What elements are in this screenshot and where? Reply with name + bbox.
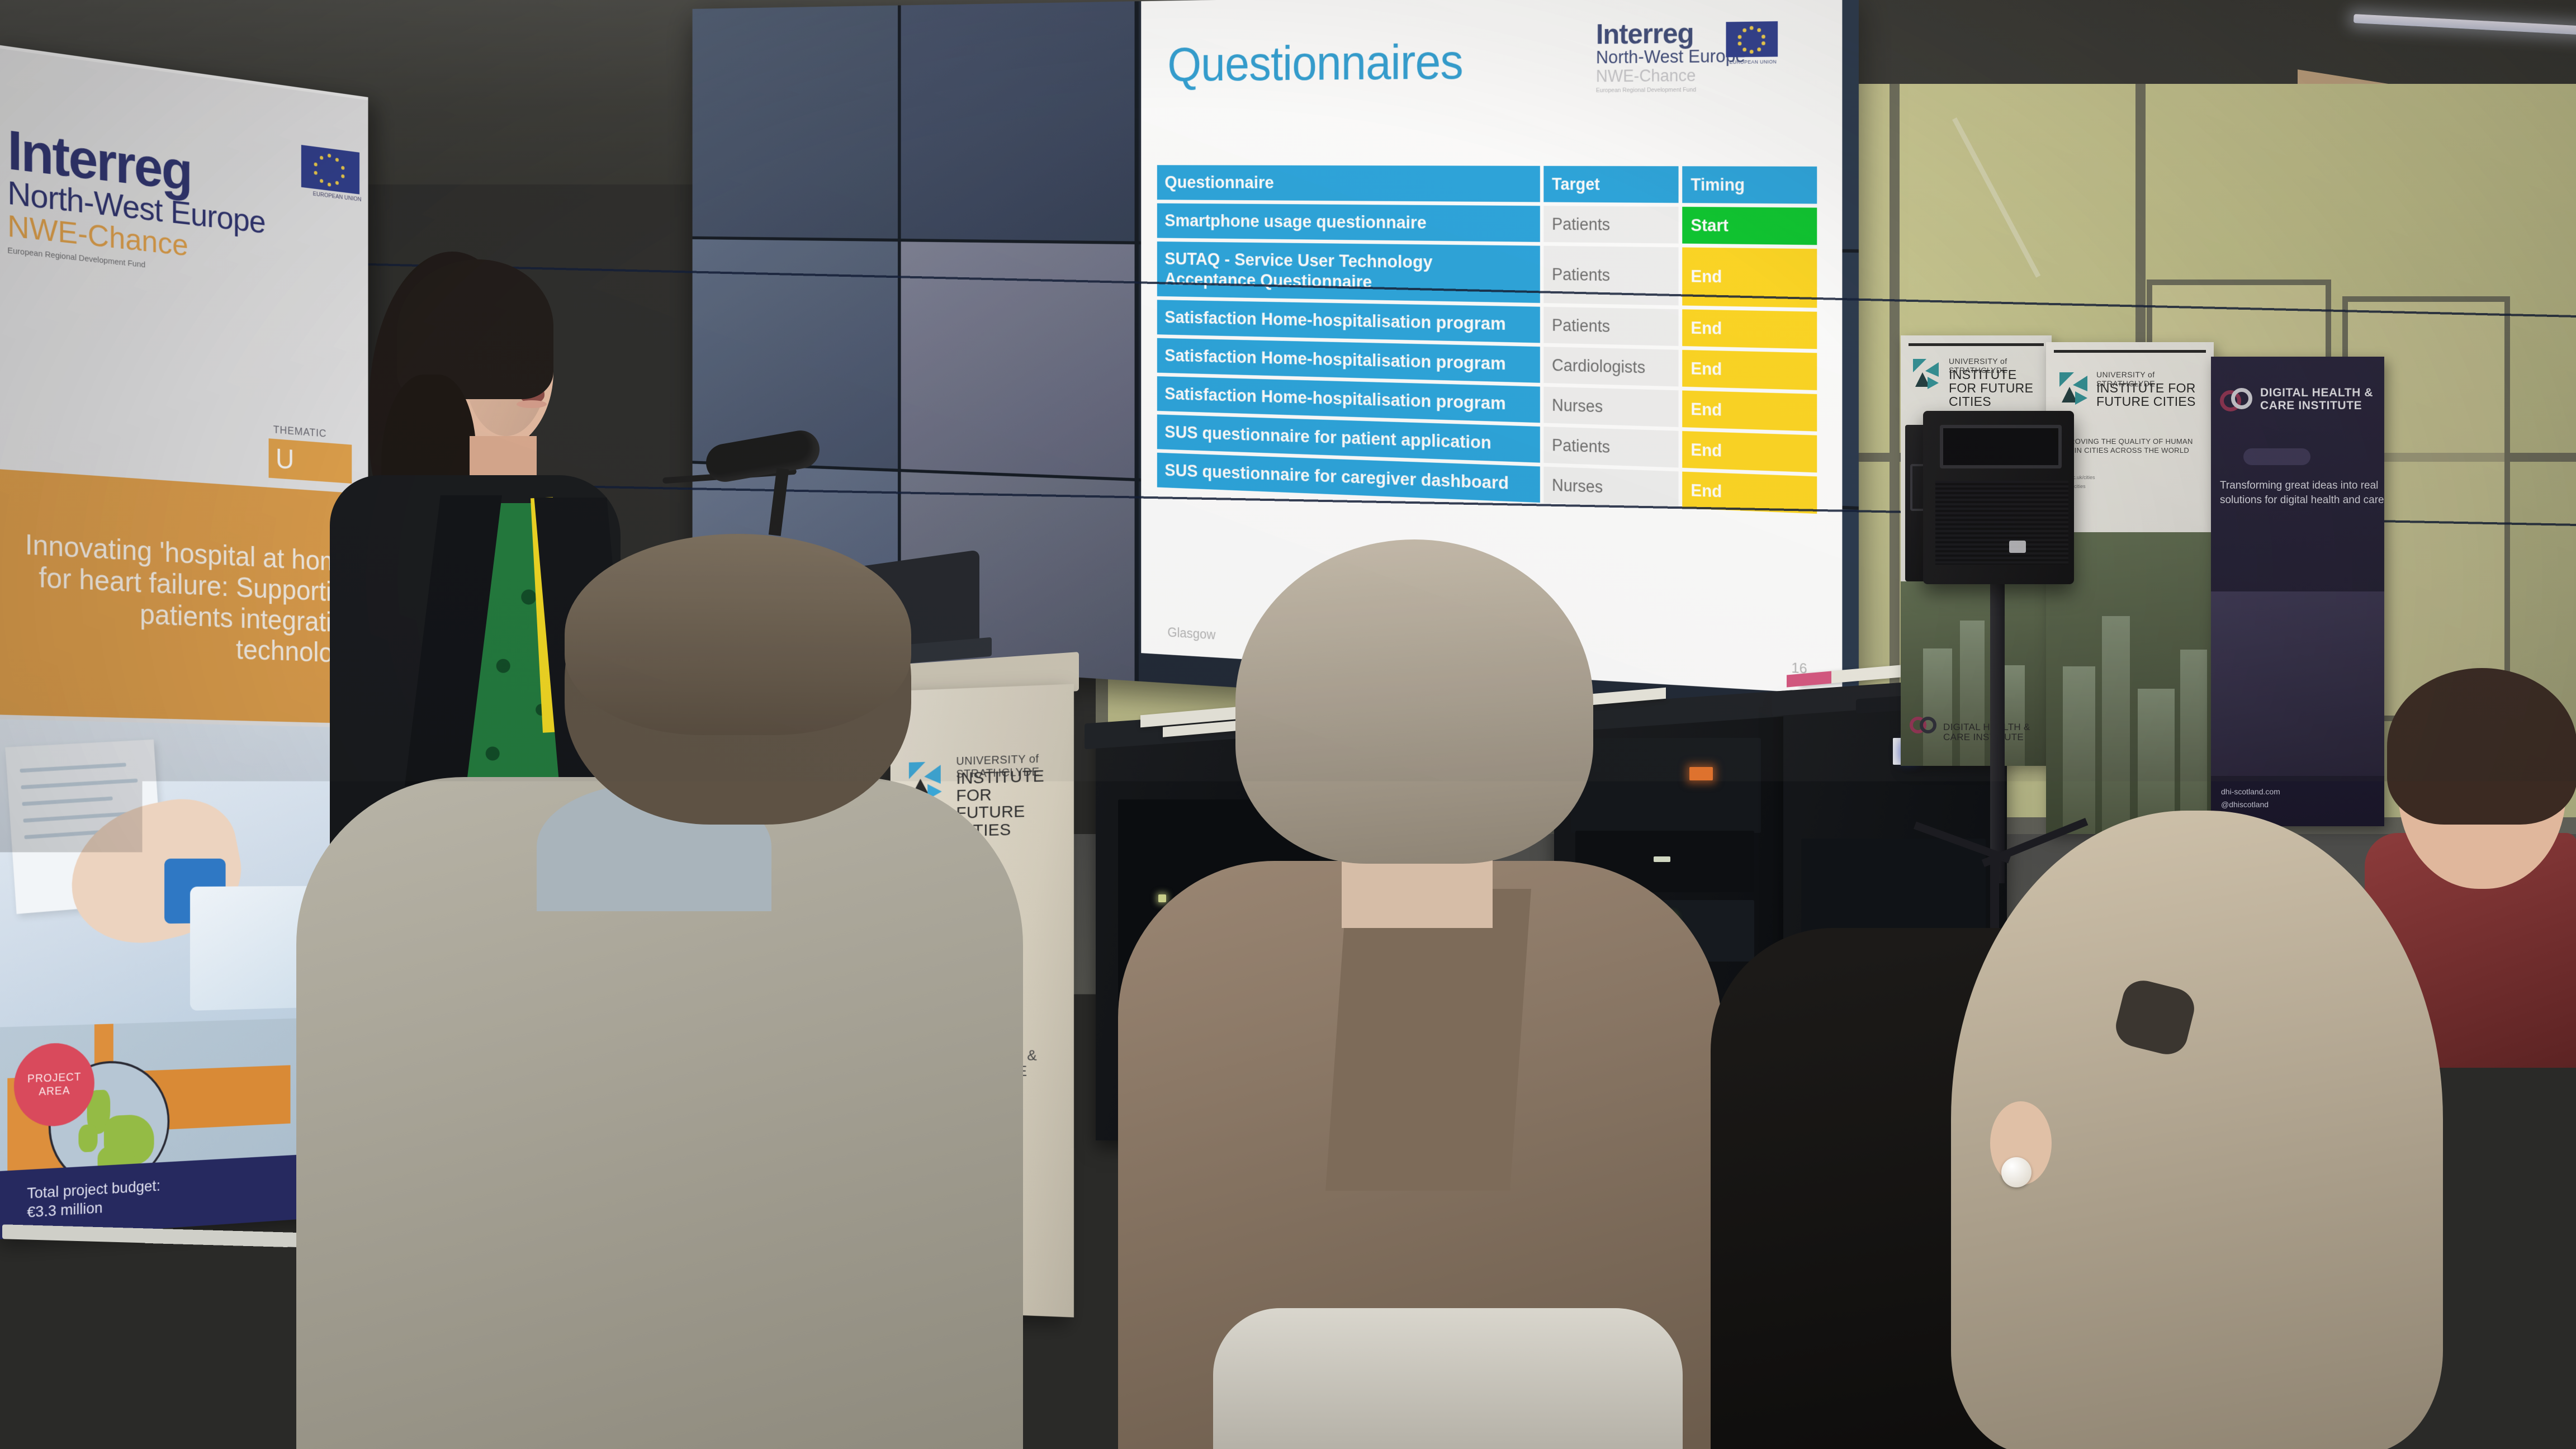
strathclyde-mark-icon <box>1911 358 1943 390</box>
dhi-website[interactable]: dhi-scotland.com <box>2221 785 2280 798</box>
cell-timing: End <box>1682 350 1817 390</box>
dhi-mark-icon <box>2220 386 2255 418</box>
dhi-social[interactable]: @dhiscotland <box>2221 798 2280 811</box>
cell-timing: Start <box>1682 207 1817 245</box>
audience-hair <box>268 855 827 1449</box>
pa-speaker-brand-badge <box>2009 541 2026 553</box>
hair-tie <box>492 962 565 1034</box>
audience-hair <box>565 534 911 735</box>
cell-timing: End <box>1682 309 1817 349</box>
questionnaire-table: Questionnaire Target Timing Smartphone u… <box>1157 165 1817 518</box>
interreg-project: NWE-Chance <box>1596 65 1772 86</box>
cell-target: Patients <box>1543 206 1678 243</box>
cell-target: Patients <box>1543 427 1678 467</box>
eu-flag-icon <box>301 145 359 194</box>
pa-speaker-horn <box>1940 425 2062 468</box>
cell-target: Patients <box>1543 246 1678 306</box>
eu-flag-caption: EUROPEAN UNION <box>1730 59 1777 65</box>
pearl-earring <box>2001 1157 2032 1187</box>
thematic-badge-letter: U <box>276 443 294 476</box>
column-header-questionnaire: Questionnaire <box>1157 165 1540 202</box>
banner-logo-block: Interreg North-West Europe NWE-Chance Eu… <box>7 124 346 291</box>
column-header-timing: Timing <box>1682 166 1817 203</box>
dhi-banner: DIGITAL HEALTH & CARE INSTITUTE Transfor… <box>2211 357 2384 826</box>
dhi-name: DIGITAL HEALTH & CARE INSTITUTE <box>2260 387 2384 412</box>
table-header-row: Questionnaire Target Timing <box>1157 165 1817 203</box>
strathclyde-mark-icon <box>2057 371 2090 404</box>
cell-target: Nurses <box>1543 467 1678 508</box>
banner-tagline: IMPROVING THE QUALITY OF HUMAN LIFE IN C… <box>2056 437 2196 456</box>
table-row: Smartphone usage questionnaire Patients … <box>1157 203 1817 245</box>
banner-headline: Innovating 'hospital at home' for heart … <box>6 527 359 669</box>
slide-interreg-logo: Interreg North-West Europe NWE-Chance Eu… <box>1596 19 1772 94</box>
speaker-stand-leg <box>1990 861 1999 939</box>
slide-footer: Glasgow <box>1167 624 1215 643</box>
audience-chair <box>1213 1308 1683 1449</box>
dhi-mark-icon <box>1910 714 1935 739</box>
lectern-logo-block: UNIVERSITY of STRATHCLYDE INSTITUTE FOR … <box>906 752 1062 757</box>
cell-target: Patients <box>1543 307 1678 346</box>
cell-timing: End <box>1682 390 1817 431</box>
cell-target: Nurses <box>1543 387 1678 427</box>
audience-hair <box>2387 668 2576 825</box>
cell-timing: End <box>1682 431 1817 472</box>
cell-questionnaire: Satisfaction Home-hospitalisation progra… <box>1157 338 1540 383</box>
banner-institute: INSTITUTE FOR FUTURE CITIES <box>1949 368 2044 408</box>
cell-target: Cardiologists <box>1543 347 1678 386</box>
banner-photo <box>2211 591 2384 776</box>
presentation-room-photo: Questionnaires Interreg North-West Europ… <box>0 0 2576 1449</box>
cell-questionnaire: Smartphone usage questionnaire <box>1157 203 1540 242</box>
cell-questionnaire: SUTAQ - Service User Technology Acceptan… <box>1157 241 1540 303</box>
pa-speaker-grille <box>1935 481 2068 565</box>
eu-flag-icon <box>1726 21 1778 57</box>
speaker-stand-pole <box>1990 581 2005 883</box>
interreg-fund: European Regional Development Fund <box>1596 86 1772 94</box>
banner-institute: INSTITUTE FOR FUTURE CITIES <box>2096 381 2203 408</box>
table-row: SUTAQ - Service User Technology Acceptan… <box>1157 241 1817 308</box>
audience-head <box>1235 539 1593 864</box>
dhi-tagline: Transforming great ideas into real solut… <box>2220 479 2384 507</box>
cell-questionnaire: Satisfaction Home-hospitalisation progra… <box>1157 300 1540 343</box>
column-header-target: Target <box>1543 166 1678 203</box>
